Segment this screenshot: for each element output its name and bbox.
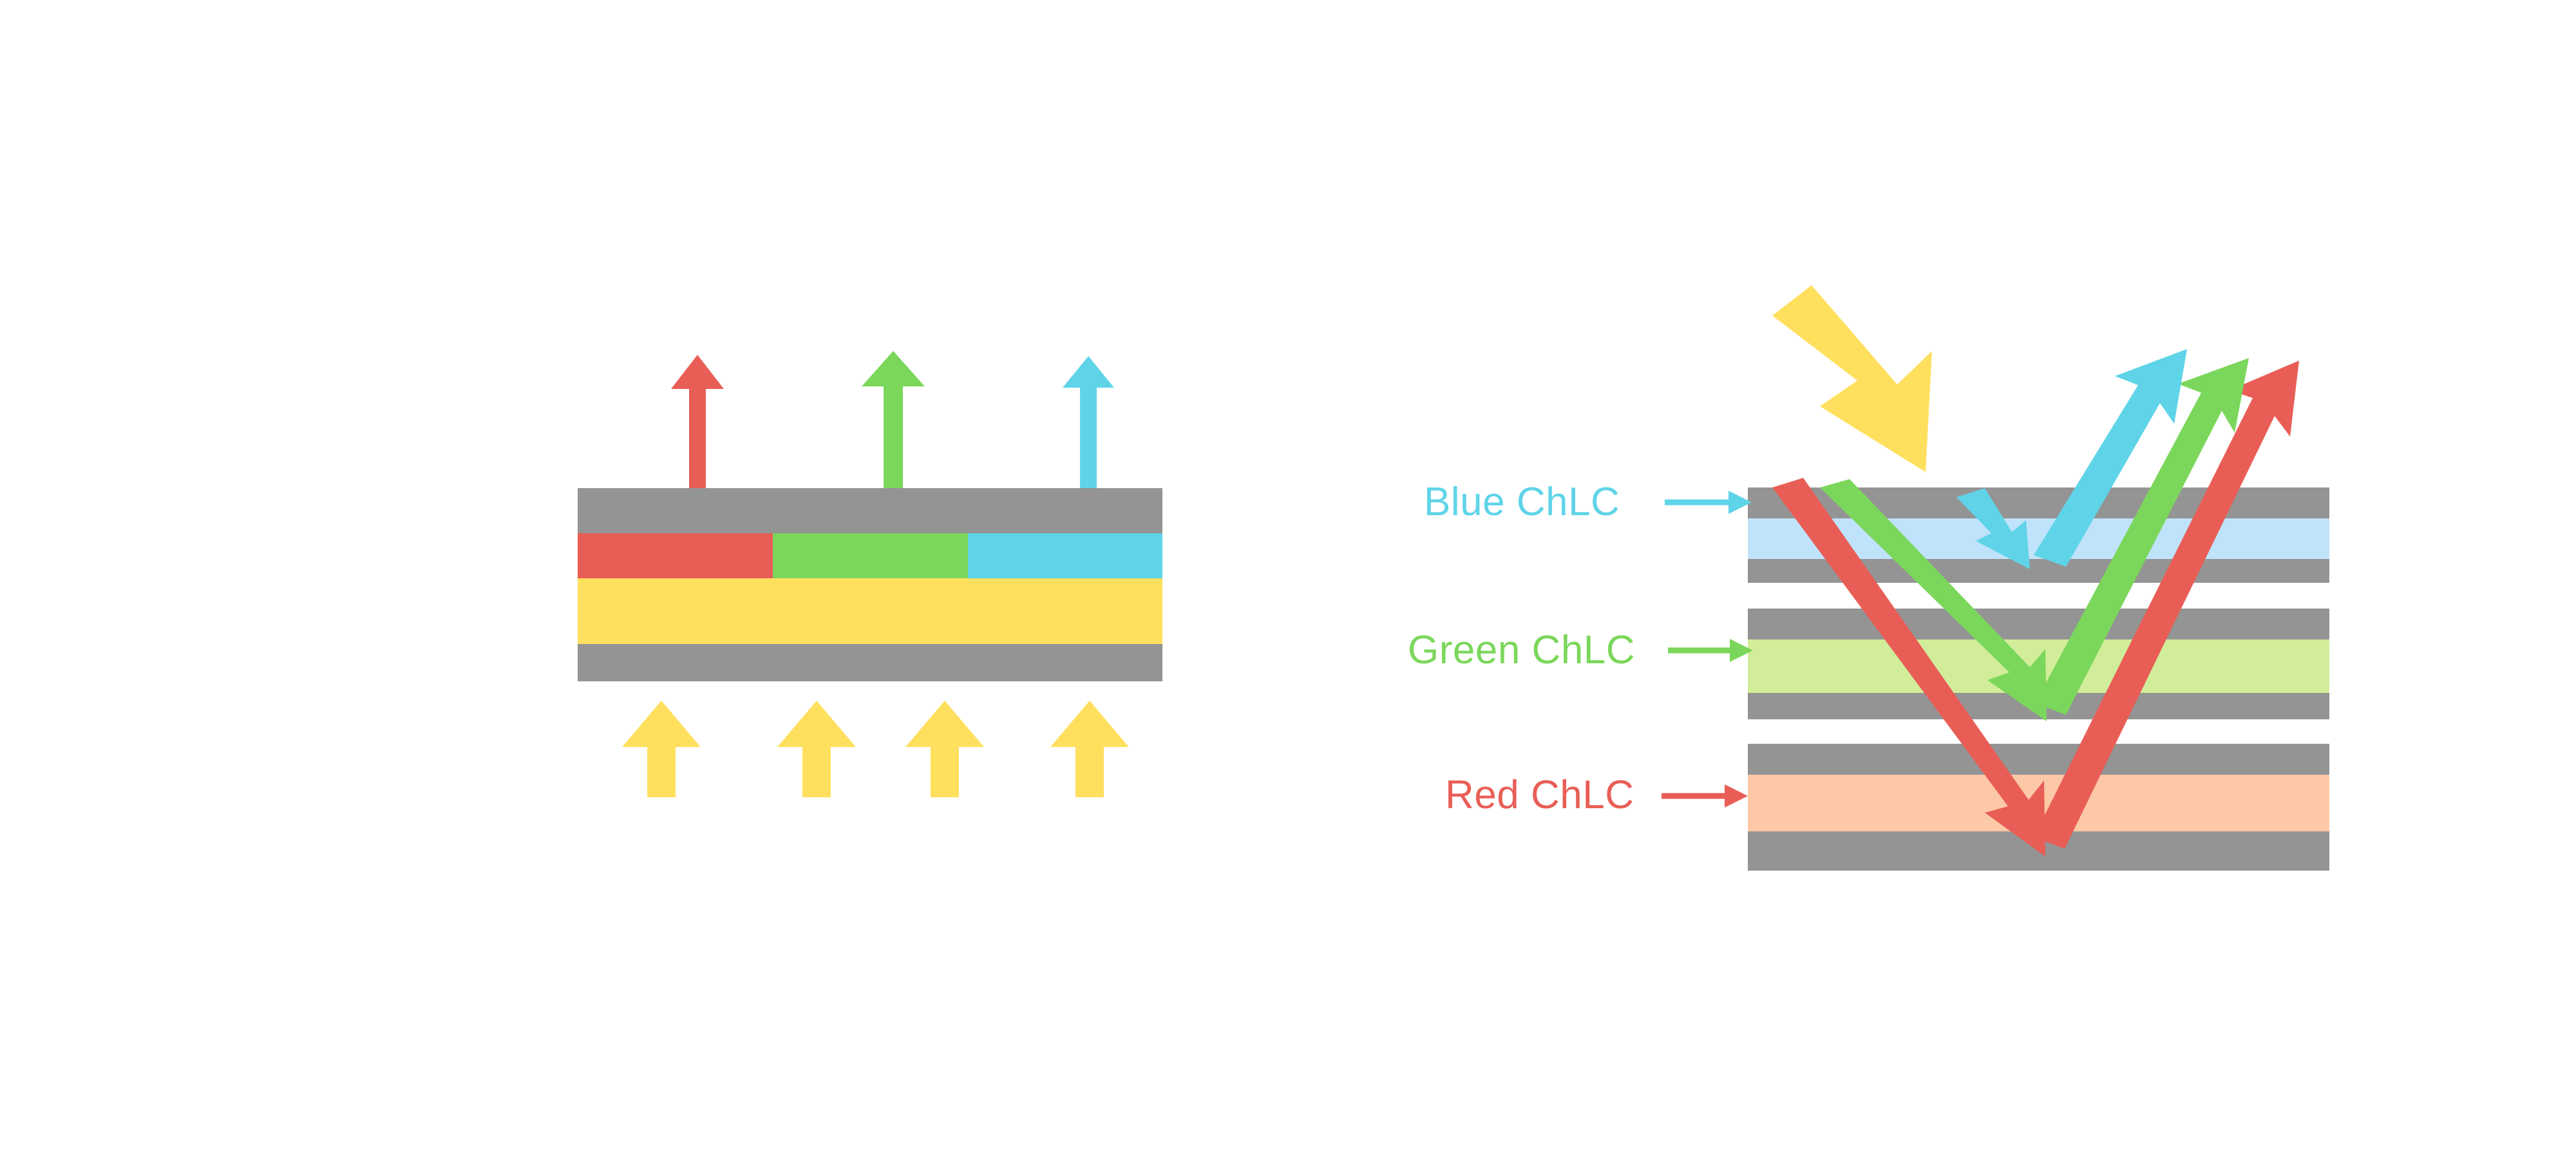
blue-chlc-label: Blue ChLC [1424, 480, 1620, 524]
bottom-electrode-layer [578, 644, 1162, 681]
left-panel [578, 351, 1162, 797]
layer-labels-group: Blue ChLC Green ChLC Red ChLC [1408, 480, 1753, 817]
backlight-layer [578, 578, 1162, 644]
red-subpixel [578, 533, 773, 578]
top-electrode-layer [578, 488, 1162, 533]
red-emitted-arrow [671, 355, 724, 491]
red-chlc-label: Red ChLC [1445, 773, 1634, 817]
right-panel: Blue ChLC Green ChLC Red ChLC [1408, 285, 2329, 871]
blue-emitted-arrow [1063, 356, 1114, 491]
incident-white-light-arrow [1772, 285, 1932, 472]
chlc-display-diagram: Blue ChLC Green ChLC Red ChLC [0, 0, 2576, 1154]
left-stack [578, 488, 1162, 681]
diagram-canvas: Blue ChLC Green ChLC Red ChLC [0, 0, 2576, 1154]
green-chlc-label: Green ChLC [1408, 628, 1635, 672]
backlight-arrow-4 [1050, 701, 1129, 797]
backlight-arrow-2 [777, 701, 856, 797]
emitted-arrows-group [671, 351, 1114, 491]
green-top-electrode [1748, 609, 2329, 639]
backlight-arrow-3 [905, 701, 984, 797]
blue-subpixel [968, 533, 1162, 578]
green-subpixel [773, 533, 968, 578]
green-chlc-label-arrow-icon [1668, 639, 1753, 662]
green-emitted-arrow [862, 351, 925, 491]
red-top-electrode [1748, 744, 2329, 775]
backlight-arrows-group [622, 701, 1129, 797]
blue-chlc-label-arrow-icon [1665, 491, 1752, 514]
backlight-arrow-1 [622, 701, 701, 797]
red-chlc-label-arrow-icon [1662, 784, 1748, 808]
